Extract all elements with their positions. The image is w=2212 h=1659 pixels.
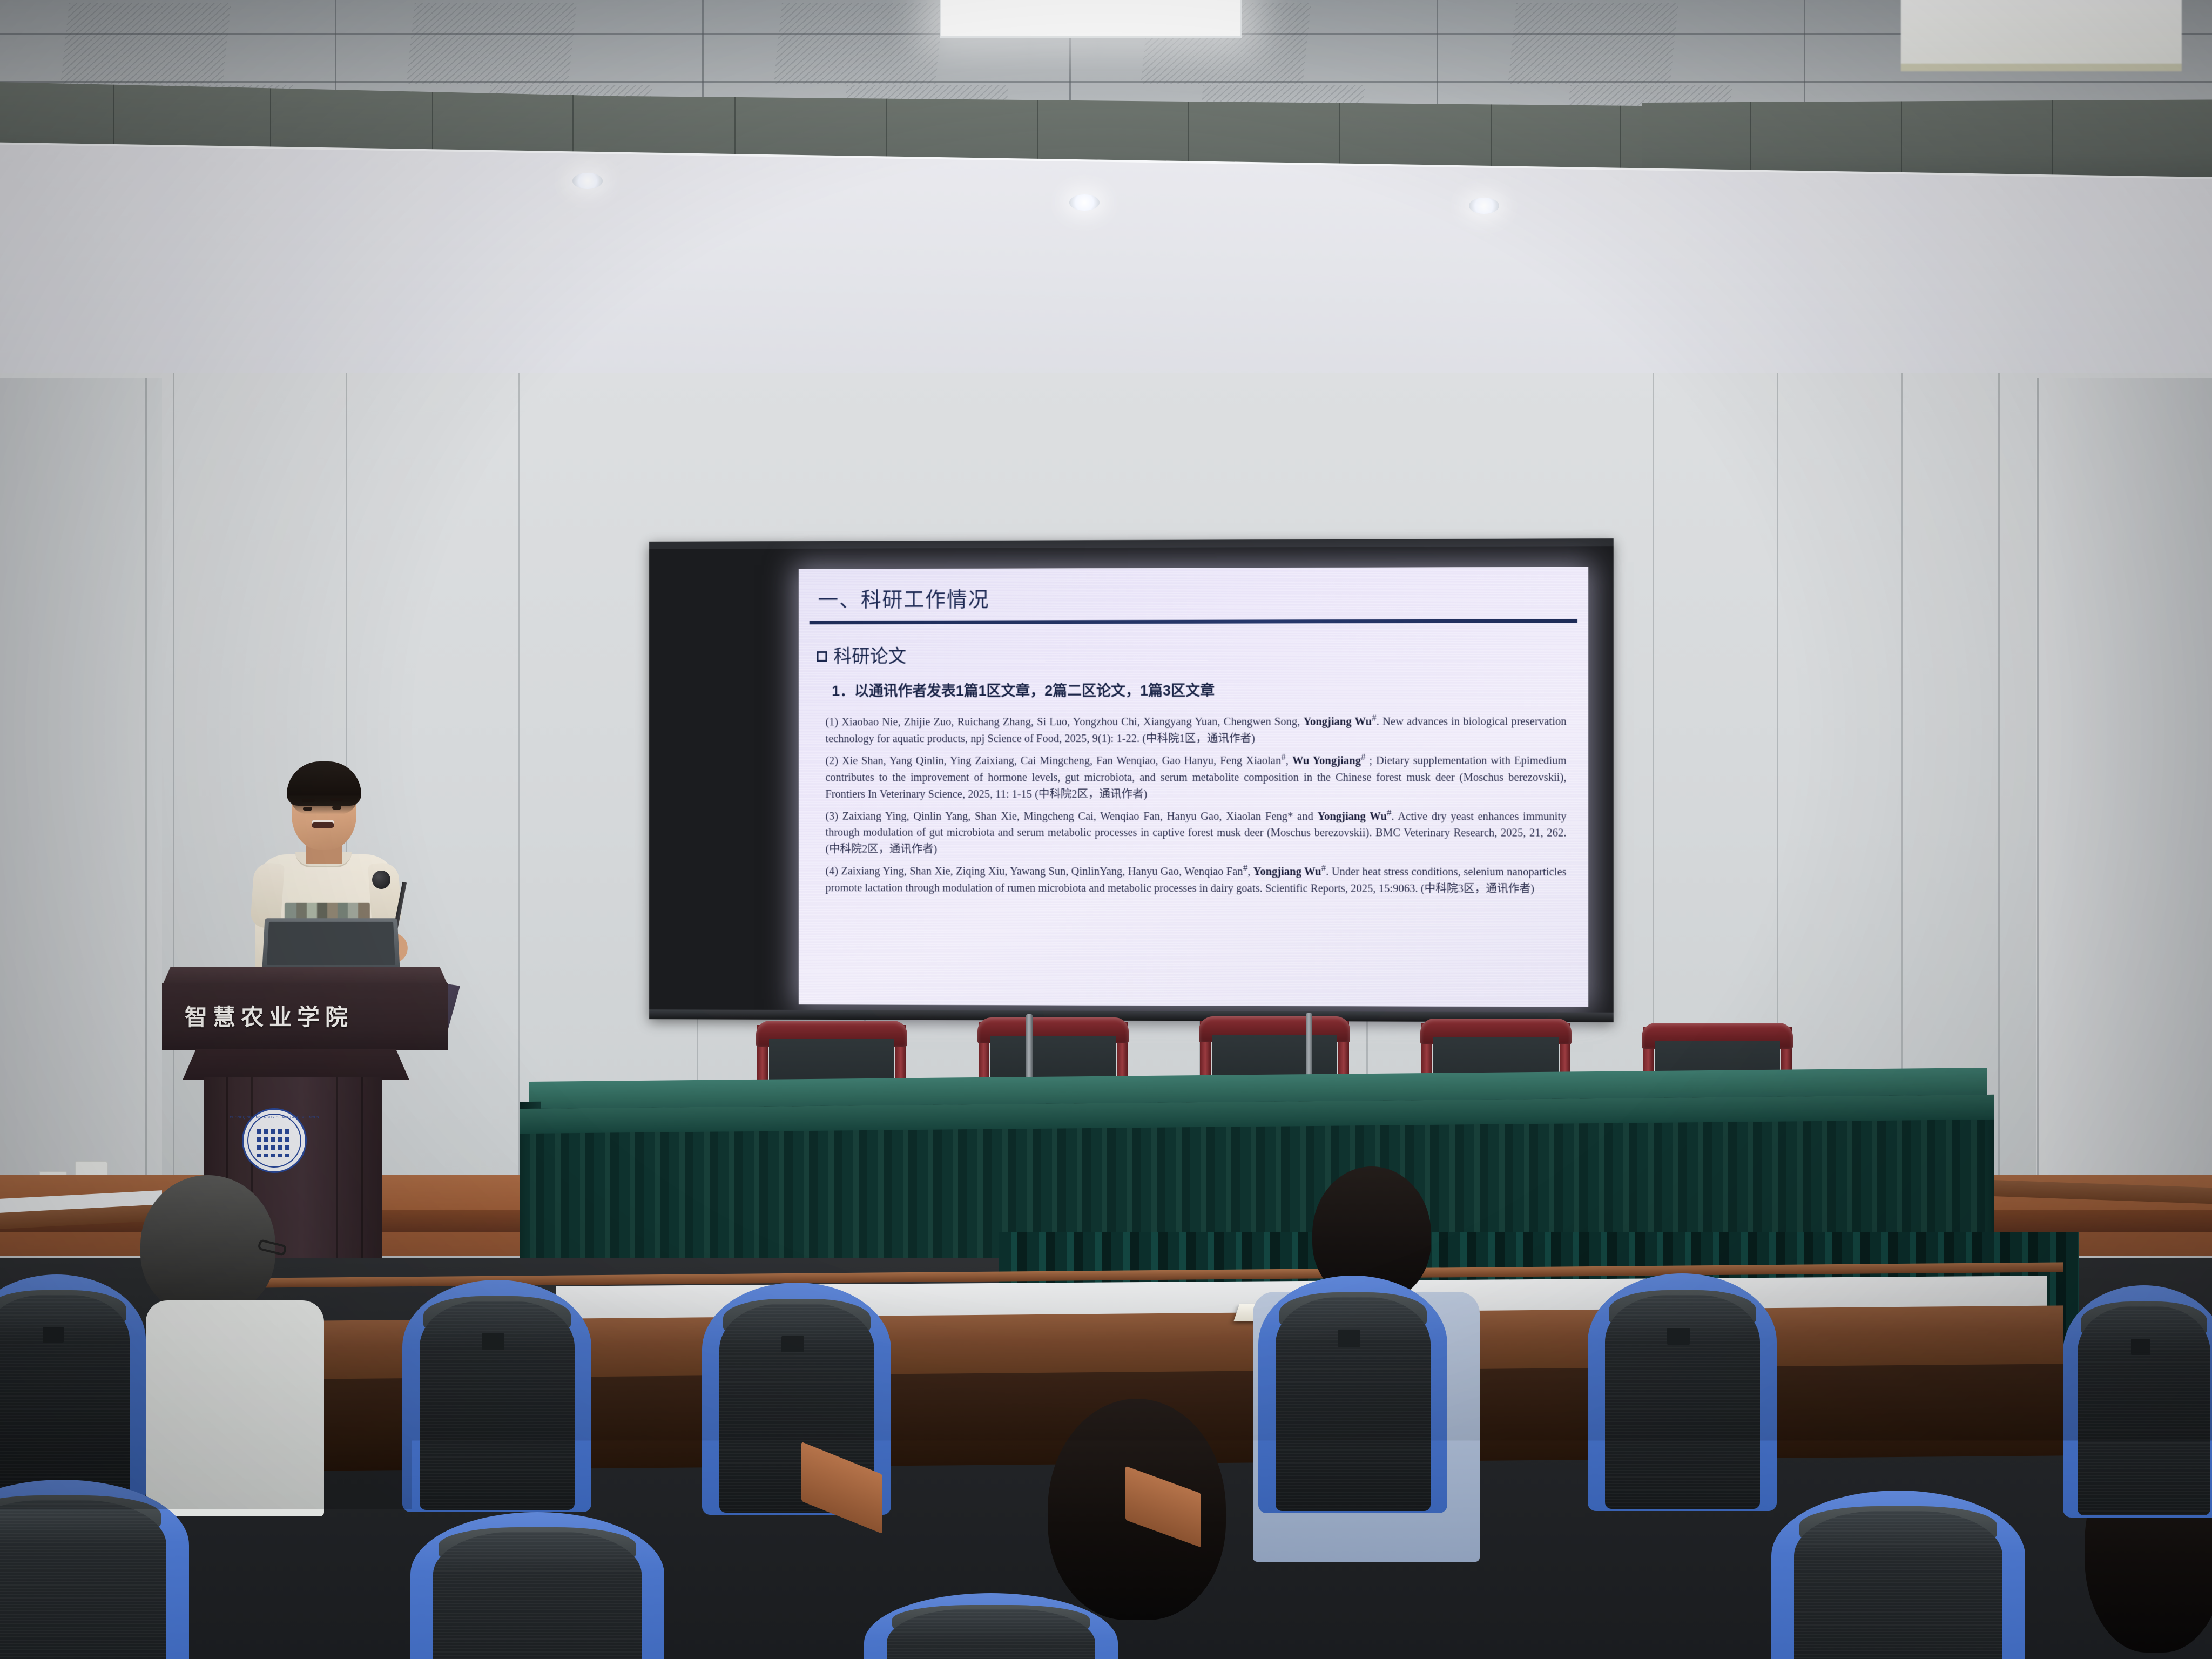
presenter-mouth [312, 820, 334, 828]
ceiling-downlight [572, 173, 603, 189]
auditorium-seat[interactable] [402, 1280, 591, 1512]
auditorium-seat[interactable] [410, 1512, 664, 1659]
slide-reference-entry: (1) Xiaobao Nie, Zhijie Zuo, Ruichang Zh… [825, 709, 1566, 747]
auditorium-seat[interactable] [1771, 1491, 2025, 1659]
auditorium-seat[interactable] [0, 1480, 189, 1659]
left-wall [0, 378, 162, 1296]
presentation-slide: 一、科研工作情况 科研论文 1．以通讯作者发表1篇1区文章，2篇二区论文，1篇3… [799, 567, 1588, 1007]
slide-title-rule [810, 619, 1577, 624]
slide-subsection: 科研论文 [817, 642, 907, 668]
auditorium-seat[interactable] [864, 1593, 1118, 1659]
emblem-wave-mark [257, 1129, 292, 1157]
auditorium-seat[interactable] [1588, 1273, 1777, 1511]
slide-reference-list: (1) Xiaobao Nie, Zhijie Zuo, Ruichang Zh… [825, 709, 1566, 899]
presenter-brow [302, 799, 315, 802]
presenter-brow [330, 798, 343, 801]
square-bullet-icon [817, 651, 827, 662]
ceiling-downlight [1469, 198, 1499, 214]
ceiling-skylight-glare [1901, 0, 2182, 65]
auditorium-seat[interactable] [1318, 1518, 1572, 1659]
presenter-laptop[interactable] [262, 918, 400, 968]
auditorium-seat[interactable] [0, 1274, 146, 1501]
emblem-ring-text: CHONGQING UNIVERSITY OF ARTS AND SCIENCE… [230, 1116, 319, 1120]
lectern-nameplate: 智慧农业学院 [185, 999, 412, 1032]
university-emblem: CHONGQING UNIVERSITY OF ARTS AND SCIENCE… [242, 1108, 307, 1173]
projection-screen-frame: 一、科研工作情况 科研论文 1．以通讯作者发表1篇1区文章，2篇二区论文，1篇3… [649, 538, 1614, 1022]
presenter-eye [303, 807, 312, 811]
presenter-hair [287, 761, 361, 806]
auditorium-seat[interactable] [1258, 1276, 1447, 1513]
right-wall [2036, 378, 2212, 1296]
wall-corner-right [2037, 378, 2039, 1242]
wall-corner-left [145, 378, 147, 1264]
ceiling-panel-light [940, 0, 1242, 38]
auditorium-seat[interactable] [2063, 1285, 2212, 1518]
slide-section-title: 一、科研工作情况 [818, 583, 990, 613]
slide-item-1: 1．以通讯作者发表1篇1区文章，2篇二区论文，1篇3区文章 [832, 679, 1215, 700]
presenter-microphone-head [372, 871, 390, 889]
lectern-skirt [183, 1049, 409, 1080]
audience-person-head [140, 1175, 275, 1316]
seminar-room-photo: 一、科研工作情况 科研论文 1．以通讯作者发表1篇1区文章，2篇二区论文，1篇3… [0, 0, 2212, 1659]
slide-subsection-label: 科研论文 [833, 646, 906, 667]
slide-reference-entry: (4) Zaixiang Ying, Shan Xie, Ziqing Xiu,… [825, 859, 1566, 898]
presenter-eye [332, 806, 341, 810]
slide-reference-entry: (2) Xie Shan, Yang Qinlin, Ying Zaixiang… [825, 748, 1566, 802]
slide-reference-entry: (3) Zaixiang Ying, Qinlin Yang, Shan Xie… [825, 804, 1566, 859]
ceiling-downlight [1069, 194, 1100, 211]
